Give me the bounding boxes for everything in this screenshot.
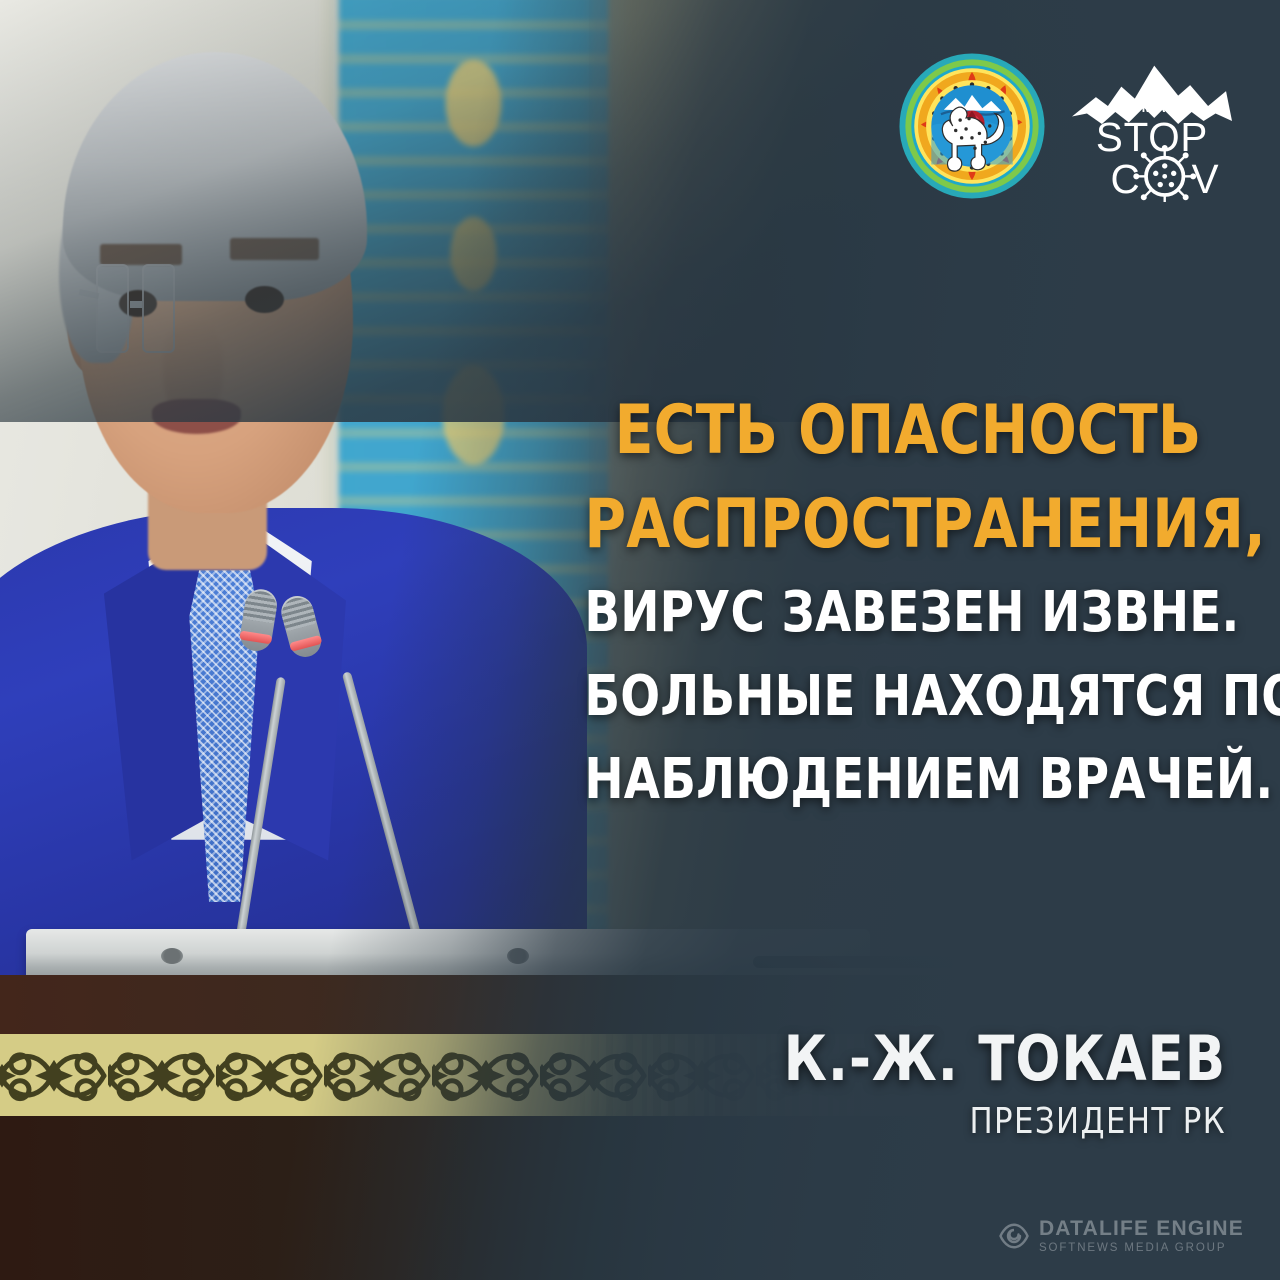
almaty-stop-cov-logo-icon: ALMATY STOP C V bbox=[1066, 52, 1238, 202]
attribution-block: К.-Ж. ТОКАЕВ ПРЕЗИДЕНТ РК bbox=[772, 1028, 1238, 1140]
watermark-subtitle: SOFTNEWS MEDIA GROUP bbox=[1039, 1243, 1244, 1255]
watermark: DATALIFE ENGINE SOFTNEWS MEDIA GROUP bbox=[999, 1218, 1244, 1255]
author-name: К.-Ж. ТОКАЕВ bbox=[784, 1028, 1226, 1090]
quote-line-3: ВИРУС ЗАВЕЗЕН ИЗВНЕ. bbox=[584, 583, 1231, 642]
datalife-eye-icon bbox=[999, 1221, 1029, 1251]
almaty-city-emblem-icon bbox=[898, 52, 1046, 200]
coronavirus-o-icon bbox=[1133, 145, 1196, 202]
watermark-title: DATALIFE ENGINE bbox=[1039, 1218, 1244, 1239]
logo-stop-text: STOP bbox=[1096, 114, 1208, 160]
quote-line-5: НАБЛЮДЕНИЕМ ВРАЧЕЙ. bbox=[584, 750, 1231, 809]
poster: ALMATY STOP C V bbox=[0, 0, 1280, 1280]
author-role: ПРЕЗИДЕНТ РК bbox=[784, 1104, 1226, 1140]
quote-block: ЕСТЬ ОПАСНОСТЬ РАСПРОСТРАНЕНИЯ, ВИРУС ЗА… bbox=[560, 395, 1256, 833]
logo-group: ALMATY STOP C V bbox=[898, 52, 1238, 202]
quote-line-2: РАСПРОСТРАНЕНИЯ, bbox=[584, 489, 1231, 561]
quote-line-4: БОЛЬНЫЕ НАХОДЯТСЯ ПОД bbox=[584, 667, 1231, 726]
quote-line-1: ЕСТЬ ОПАСНОСТЬ bbox=[584, 395, 1231, 467]
logo-v-letter: V bbox=[1192, 156, 1219, 202]
